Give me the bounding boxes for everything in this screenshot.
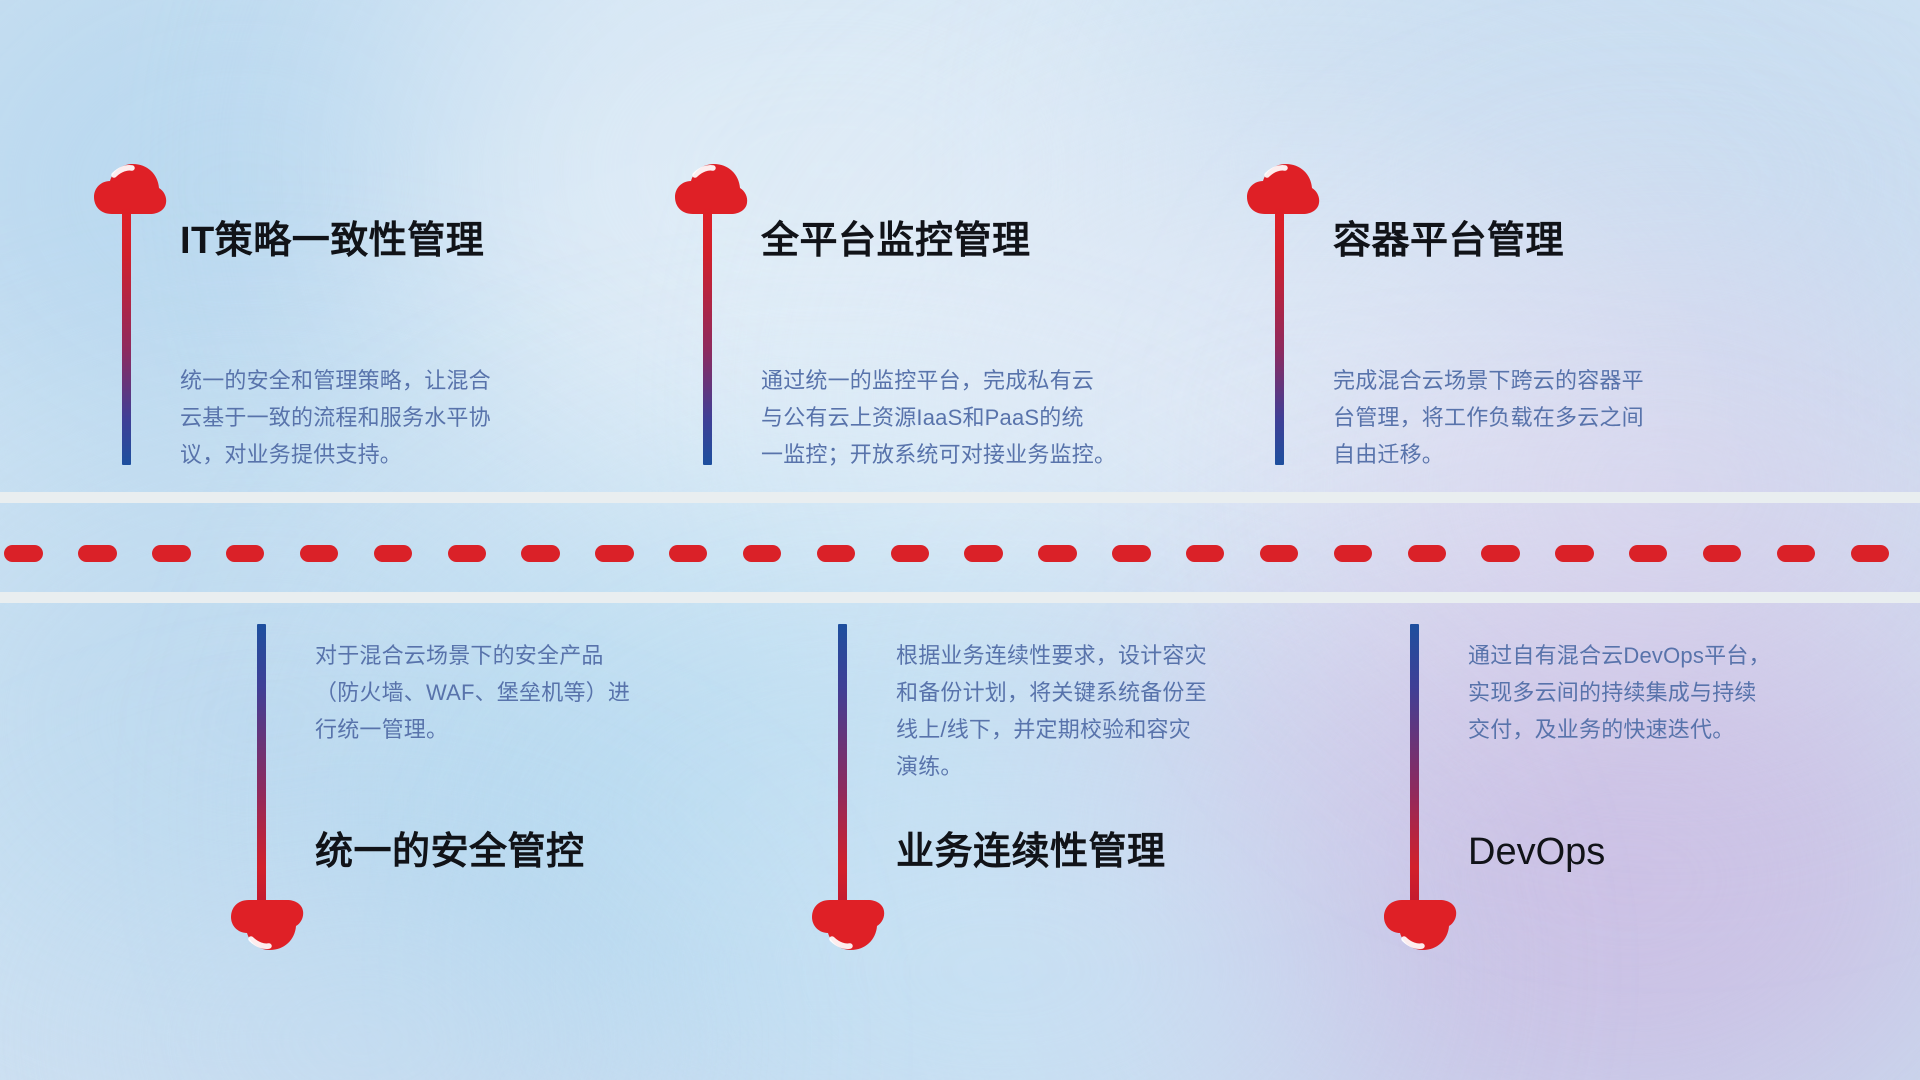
cloud-icon <box>810 898 886 954</box>
road-dash <box>595 545 633 562</box>
road-dash <box>1260 545 1298 562</box>
infographic-canvas: IT策略一致性管理 统一的安全和管理策略，让混合 云基于一致的流程和服务水平协 … <box>0 0 1920 1080</box>
road-dash <box>1703 545 1741 562</box>
item-description: 通过统一的监控平台，完成私有云 与公有云上资源IaaS和PaaS的统 一监控；开… <box>761 362 1201 473</box>
item-title: IT策略一致性管理 <box>180 222 484 260</box>
item-title: 容器平台管理 <box>1333 222 1564 260</box>
road-dash <box>1851 545 1889 562</box>
road-dash <box>300 545 338 562</box>
connector-stem <box>1410 624 1419 910</box>
road-dash <box>891 545 929 562</box>
road-center-dashes <box>0 545 1920 562</box>
road-dash <box>1629 545 1667 562</box>
road-dash <box>4 545 42 562</box>
road-edge-line-top <box>0 492 1920 503</box>
item-title: 全平台监控管理 <box>761 222 1031 260</box>
connector-stem <box>257 624 266 910</box>
road-dash <box>743 545 781 562</box>
cloud-icon <box>229 898 305 954</box>
road-dash <box>964 545 1002 562</box>
road-dash <box>1038 545 1076 562</box>
road-dash <box>374 545 412 562</box>
road-dash <box>1777 545 1815 562</box>
connector-stem <box>122 208 131 465</box>
road-dash <box>1555 545 1593 562</box>
road-dash <box>1334 545 1372 562</box>
item-title: 统一的安全管控 <box>315 833 585 871</box>
item-title: DevOps <box>1468 833 1605 871</box>
connector-stem <box>838 624 847 910</box>
item-description: 通过自有混合云DevOps平台， 实现多云间的持续集成与持续 交付，及业务的快速… <box>1468 637 1898 748</box>
road-dash <box>152 545 190 562</box>
road-dash <box>1112 545 1150 562</box>
road-dash <box>1408 545 1446 562</box>
road-dash <box>448 545 486 562</box>
item-description: 完成混合云场景下跨云的容器平 台管理，将工作负载在多云之间 自由迁移。 <box>1333 362 1773 473</box>
road-dash <box>669 545 707 562</box>
road-dash <box>1481 545 1519 562</box>
road-dash <box>78 545 116 562</box>
road-dash <box>226 545 264 562</box>
item-description: 根据业务连续性要求，设计容灾 和备份计划，将关键系统备份至 线上/线下，并定期校… <box>896 637 1326 785</box>
road-dash <box>521 545 559 562</box>
connector-stem <box>703 208 712 465</box>
road-edge-line-bottom <box>0 592 1920 603</box>
road-dash <box>1186 545 1224 562</box>
cloud-icon <box>1382 898 1458 954</box>
item-description: 对于混合云场景下的安全产品 （防火墙、WAF、堡垒机等）进 行统一管理。 <box>315 637 745 748</box>
item-title: 业务连续性管理 <box>896 833 1166 871</box>
item-description: 统一的安全和管理策略，让混合 云基于一致的流程和服务水平协 议，对业务提供支持。 <box>180 362 610 473</box>
road-dash <box>817 545 855 562</box>
connector-stem <box>1275 208 1284 465</box>
